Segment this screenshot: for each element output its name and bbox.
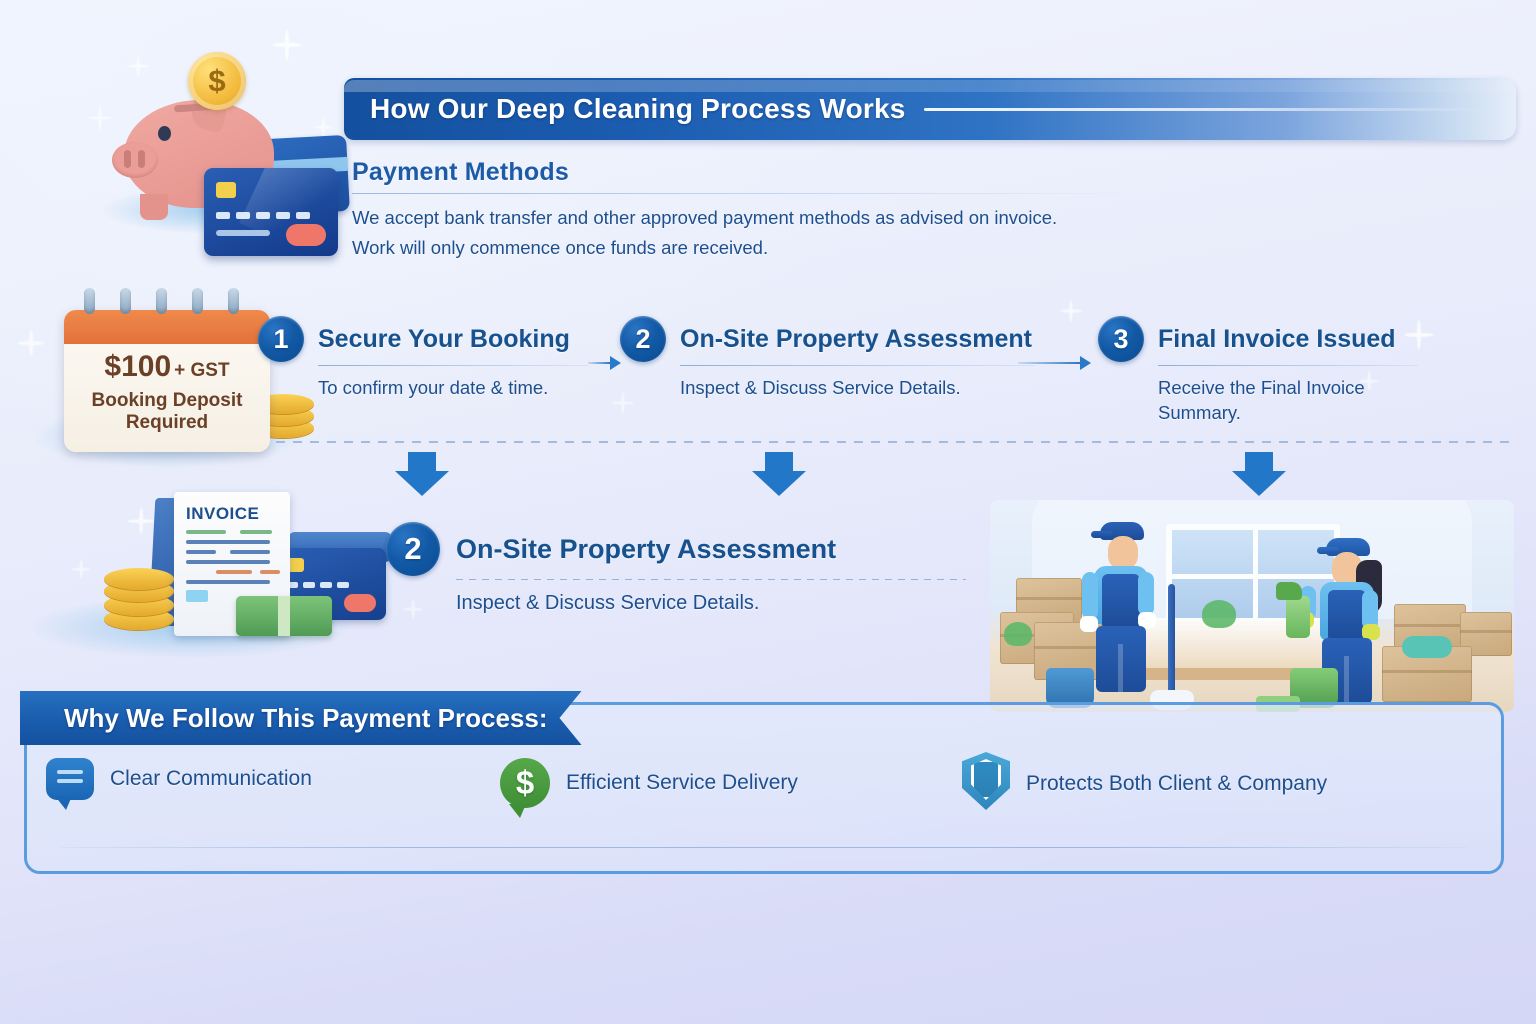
deposit-amount: $100+ GST	[64, 350, 270, 384]
step-connector-2-3	[1018, 356, 1091, 370]
bed-graphic	[1140, 618, 1350, 670]
sparkle-icon	[1060, 300, 1082, 322]
piggy-ear	[188, 89, 229, 133]
step-3-divider	[1158, 365, 1418, 366]
step-1-title: Secure Your Booking	[318, 325, 570, 354]
invoice-illustration: INVOICE	[40, 488, 380, 658]
section-dashed-divider	[276, 441, 1512, 443]
deposit-label: Booking Deposit Required	[64, 390, 270, 435]
spray-bottle-icon	[1286, 596, 1310, 638]
step-2-detail-divider	[456, 579, 966, 580]
sparkle-icon	[72, 560, 90, 578]
payment-methods-heading: Payment Methods	[352, 158, 1352, 187]
deposit-label-line-1: Booking Deposit	[92, 390, 243, 411]
payment-methods-divider	[352, 193, 1147, 194]
dollar-bubble-icon: $	[500, 758, 550, 808]
window-graphic	[1166, 524, 1340, 636]
sparkle-icon	[236, 406, 258, 428]
calendar-header	[64, 310, 270, 344]
chat-bubble-icon	[46, 758, 94, 800]
down-arrow-icon	[1232, 452, 1286, 496]
step-2-title: On-Site Property Assessment	[680, 325, 1032, 354]
credit-card-back-icon	[226, 135, 350, 217]
step-connector-1-2	[588, 356, 621, 370]
benefit-item-clear-communication[interactable]: Clear Communication	[46, 758, 312, 800]
step-3-number: 3	[1098, 316, 1144, 362]
step-2-description: Inspect & Discuss Service Details.	[680, 376, 1035, 401]
benefits-ribbon-title: Why We Follow This Payment Process:	[20, 691, 582, 745]
step-2-detail-title: On-Site Property Assessment	[456, 534, 836, 565]
cash-stack-icon	[236, 596, 332, 636]
sparkle-icon	[314, 118, 332, 136]
benefit-label: Efficient Service Delivery	[566, 771, 798, 795]
step-1-divider	[318, 365, 588, 366]
credit-card-icon	[276, 548, 386, 620]
header-rule	[924, 108, 1490, 111]
header-banner: How Our Deep Cleaning Process Works	[344, 78, 1516, 140]
process-step-1: 1 Secure Your Booking To confirm your da…	[258, 316, 588, 401]
step-3-description: Receive the Final Invoice Summary.	[1158, 376, 1408, 426]
cleaners-illustration	[990, 500, 1514, 712]
piggy-body	[124, 100, 274, 208]
step-2-detail-description: Inspect & Discuss Service Details.	[456, 590, 966, 617]
invoice-document-title: INVOICE	[186, 504, 290, 524]
piggy-snout	[112, 142, 158, 178]
payment-methods-line-1: We accept bank transfer and other approv…	[352, 205, 1352, 231]
coin-stack-icon	[104, 574, 174, 632]
step-1-number: 1	[258, 316, 304, 362]
sparkle-icon	[128, 508, 154, 534]
calendar-card: $100+ GST Booking Deposit Required	[64, 310, 270, 452]
shield-icon	[962, 752, 1010, 810]
sparkle-icon	[272, 30, 302, 60]
deposit-amount-value: $100	[104, 350, 171, 383]
deposit-tax-label: + GST	[174, 360, 229, 381]
invoice-document: INVOICE	[174, 492, 290, 636]
process-step-2: 2 On-Site Property Assessment Inspect & …	[620, 316, 1035, 401]
step-3-title: Final Invoice Issued	[1158, 325, 1396, 354]
benefit-label: Protects Both Client & Company	[1026, 772, 1327, 796]
down-arrow-icon	[752, 452, 806, 496]
process-step-2-detail: 2 On-Site Property Assessment Inspect & …	[386, 522, 966, 617]
step-2-number: 2	[620, 316, 666, 362]
sparkle-icon	[18, 330, 44, 356]
step-2-detail-number: 2	[386, 522, 440, 576]
benefit-label: Clear Communication	[110, 767, 312, 791]
benefit-item-efficient-service-delivery[interactable]: $ Efficient Service Delivery	[500, 758, 798, 808]
down-arrow-icon	[395, 452, 449, 496]
process-step-3: 3 Final Invoice Issued Receive the Final…	[1098, 316, 1418, 426]
credit-card-front-icon	[204, 168, 338, 256]
page-title: How Our Deep Cleaning Process Works	[370, 93, 906, 125]
payment-methods-line-2: Work will only commence once funds are r…	[352, 235, 1352, 261]
deposit-label-line-2: Required	[126, 412, 208, 433]
step-2-divider	[680, 365, 1035, 366]
panel-divider	[61, 847, 1467, 848]
gold-coin-icon: $	[188, 52, 246, 110]
step-1-description: To confirm your date & time.	[318, 376, 588, 401]
benefit-item-protects-both-client-and-company[interactable]: Protects Both Client & Company	[962, 752, 1327, 810]
sparkle-icon	[88, 106, 112, 130]
payment-methods-section: Payment Methods We accept bank transfer …	[352, 158, 1352, 262]
sparkle-icon	[128, 56, 148, 76]
piggy-bank-illustration: $	[96, 34, 346, 234]
